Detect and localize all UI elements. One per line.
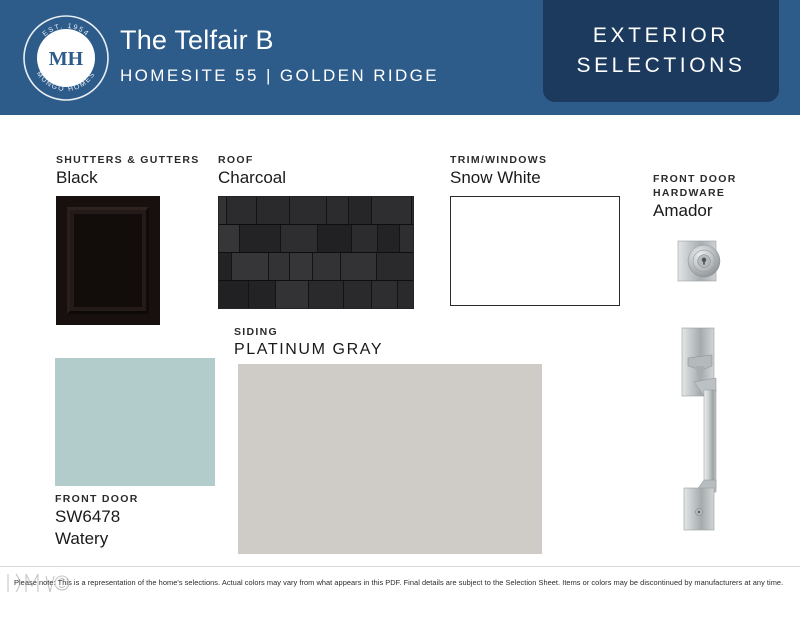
deadbolt-icon — [672, 233, 728, 289]
shingle-tab — [218, 253, 232, 280]
plan-title: The Telfair B — [120, 22, 439, 58]
shingle-tab — [232, 253, 269, 280]
shingle-tab — [240, 225, 281, 252]
roof-block: ROOF Charcoal — [218, 153, 286, 189]
shingle-tab — [218, 281, 249, 308]
shingle-row — [218, 281, 414, 309]
front-door-color-swatch — [55, 358, 215, 486]
roof-category-label: ROOF — [218, 153, 286, 167]
front-door-block: FRONT DOOR SW6478 Watery — [55, 492, 139, 550]
shingle-tab — [318, 225, 352, 252]
shingle-tab — [249, 281, 275, 308]
shingle-tab — [309, 281, 344, 308]
page-header: MH EST. 1954 MUNGO HOMES The Telfair B H… — [0, 0, 800, 115]
shingle-tab — [378, 225, 401, 252]
exterior-selections-page: MH EST. 1954 MUNGO HOMES The Telfair B H… — [0, 0, 800, 618]
shingle-tab — [372, 197, 411, 224]
shingle-tab — [290, 197, 327, 224]
shingle-tab — [352, 225, 377, 252]
hardware-block: FRONT DOOR HARDWARE Amador — [653, 172, 737, 222]
trim-value: Snow White — [450, 167, 547, 189]
mungo-homes-logo: MH EST. 1954 MUNGO HOMES — [22, 14, 110, 102]
roof-shingle-swatch — [218, 196, 414, 309]
shingle-tab — [398, 281, 414, 308]
trim-category-label: TRIM/WINDOWS — [450, 153, 547, 167]
shingle-tab — [377, 253, 414, 280]
roof-value: Charcoal — [218, 167, 286, 189]
hardware-category-label-2: HARDWARE — [653, 186, 737, 200]
shutters-category-label: SHUTTERS & GUTTERS — [56, 153, 200, 167]
shutters-block: SHUTTERS & GUTTERS Black — [56, 153, 200, 189]
siding-value: PLATINUM GRAY — [234, 339, 383, 361]
shingle-tab — [269, 253, 289, 280]
shingle-row — [218, 225, 414, 253]
shingle-row — [218, 197, 414, 225]
shingle-tab — [327, 197, 348, 224]
shingle-tab — [290, 253, 313, 280]
logo-monogram: MH — [49, 48, 84, 70]
shingle-tab — [412, 197, 414, 224]
shingle-tab — [349, 197, 373, 224]
shingle-tab — [218, 197, 227, 224]
shingle-tab — [372, 281, 398, 308]
siding-block: SIDING PLATINUM GRAY — [234, 325, 383, 361]
trim-windows-block: TRIM/WINDOWS Snow White — [450, 153, 547, 189]
header-titles: The Telfair B HOMESITE 55 | GOLDEN RIDGE — [120, 22, 439, 90]
siding-swatch — [238, 364, 542, 554]
shingle-tab — [227, 197, 257, 224]
hardware-category-label-1: FRONT DOOR — [653, 172, 737, 186]
shingle-tab — [218, 225, 240, 252]
hardware-value: Amador — [653, 200, 737, 222]
shutter-panel-face — [74, 214, 142, 307]
shingle-row — [218, 253, 414, 281]
shingle-tab — [341, 253, 377, 280]
badge-line-2: SELECTIONS — [576, 51, 745, 81]
exterior-selections-badge: EXTERIOR SELECTIONS — [543, 0, 779, 102]
shingle-tab — [257, 197, 290, 224]
shingle-tab — [313, 253, 341, 280]
front-door-category-label: FRONT DOOR — [55, 492, 139, 506]
homesite-subtitle: HOMESITE 55 | GOLDEN RIDGE — [120, 62, 439, 90]
footer-disclaimer: Please note: This is a representation of… — [14, 578, 790, 588]
badge-line-1: EXTERIOR — [593, 21, 729, 51]
shingle-tab — [400, 225, 414, 252]
shingle-tab — [281, 225, 318, 252]
handleset-icon — [668, 322, 732, 537]
shutter-panel-frame — [67, 207, 149, 314]
shingle-tab — [276, 281, 309, 308]
shutters-value: Black — [56, 167, 200, 189]
shutters-swatch — [56, 196, 160, 325]
front-door-code: SW6478 — [55, 506, 139, 528]
trim-white-swatch — [450, 196, 620, 306]
front-door-value: Watery — [55, 528, 139, 550]
footer-divider — [0, 566, 800, 567]
shingle-tab — [344, 281, 372, 308]
siding-category-label: SIDING — [234, 325, 383, 339]
